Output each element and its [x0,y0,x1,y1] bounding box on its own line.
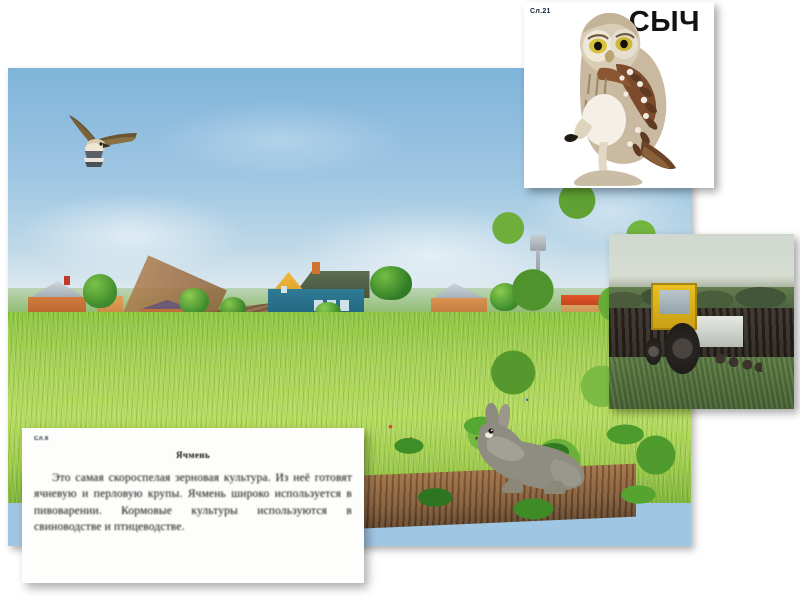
hare-animal-icon [459,393,604,498]
tree [83,274,117,308]
tree [370,266,412,300]
owl-slide-panel[interactable]: Сл.21 СЫЧ [524,2,714,188]
little-owl-icon [538,8,698,186]
village-house-1 [28,281,86,315]
tree [179,288,209,314]
hawk-bird-icon [63,111,141,169]
text-box-body: Это самая скороспелая зерновая культура.… [34,470,352,535]
tractor-icon [642,283,757,374]
info-text-box[interactable]: Сл.6 Ячмень Это самая скороспелая зернов… [22,428,364,583]
text-box-title: Ячмень [34,450,352,460]
text-box-tag: Сл.6 [34,436,352,442]
slide-canvas: Сл.21 СЫЧ [0,0,800,600]
tractor-photo-panel[interactable] [609,234,794,409]
